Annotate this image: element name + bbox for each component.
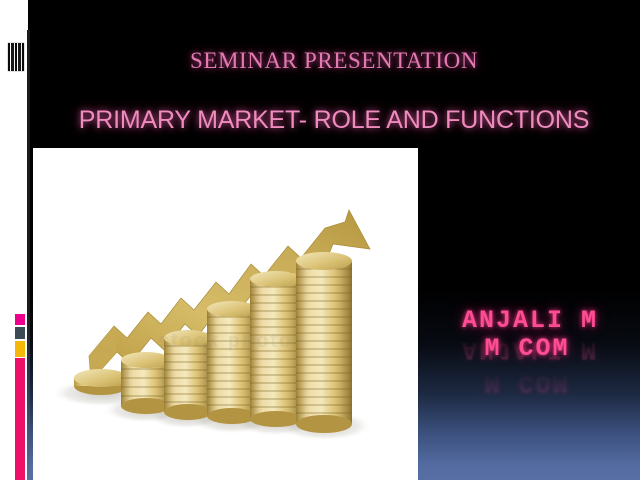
swatch-gold-icon <box>15 341 25 357</box>
swatch-magenta-icon <box>15 314 25 325</box>
slide-kicker: SEMINAR PRESENTATION <box>28 48 640 74</box>
author-qualification: M COM <box>418 336 636 361</box>
coin-stack-2 <box>121 352 171 414</box>
left-vertical-rule <box>27 30 30 480</box>
coin-stack-6 <box>296 252 352 433</box>
barcode-icon <box>8 43 24 71</box>
coin-growth-image: stock photo <box>33 148 418 480</box>
coin-stack-3 <box>164 330 212 420</box>
page-title: PRIMARY MARKET- ROLE AND FUNCTIONS <box>28 106 640 135</box>
coin-stack-4 <box>207 301 257 424</box>
magenta-accent-strip <box>15 358 25 480</box>
presentation-slide: SEMINAR PRESENTATION PRIMARY MARKET- ROL… <box>0 0 640 480</box>
coin-growth-illustration <box>33 148 418 480</box>
author-block: ANJALI M M COM <box>424 308 636 361</box>
coin-stack-5 <box>250 271 302 427</box>
author-name: ANJALI M <box>424 308 636 333</box>
coin-stack-1 <box>74 369 128 395</box>
swatch-slate-icon <box>15 326 25 340</box>
